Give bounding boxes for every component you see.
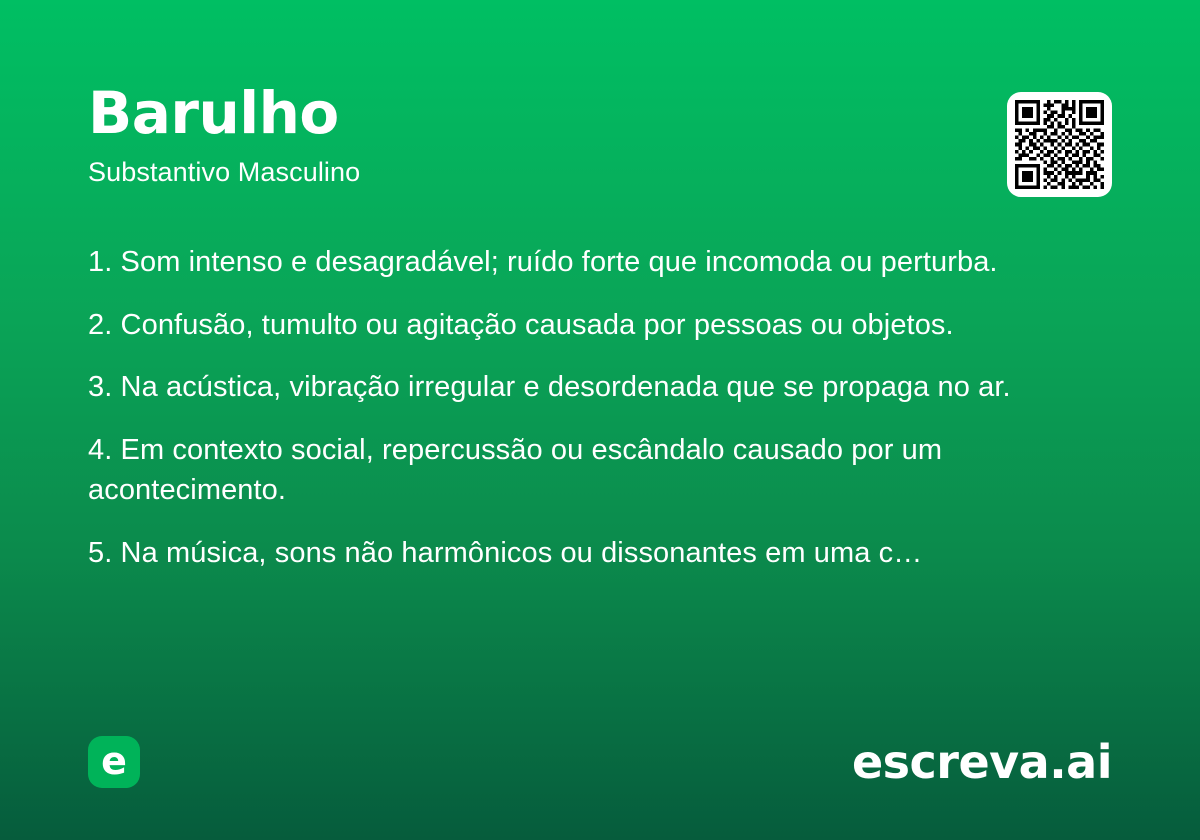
card-header: Barulho Substantivo Masculino (88, 84, 1112, 197)
page-title: Barulho (88, 84, 360, 142)
qr-code[interactable] (1007, 92, 1112, 197)
definition-list: 1. Som intenso e desagradável; ruído for… (88, 243, 1118, 573)
definition-item: 5. Na música, sons não harmônicos ou dis… (88, 534, 1118, 574)
logo-letter: e (101, 742, 127, 780)
brand-wordmark: escreva.ai (852, 739, 1112, 785)
word-class-label: Substantivo Masculino (88, 156, 360, 188)
qr-code-icon (1015, 100, 1104, 189)
card-footer: e escreva.ai (88, 734, 1112, 790)
definition-item: 1. Som intenso e desagradável; ruído for… (88, 243, 1118, 283)
definition-item: 4. Em contexto social, repercussão ou es… (88, 431, 1118, 510)
definition-item: 2. Confusão, tumulto ou agitação causada… (88, 306, 1118, 346)
definition-item: 3. Na acústica, vibração irregular e des… (88, 368, 1118, 408)
dictionary-card: Barulho Substantivo Masculino 1. Som int… (0, 0, 1200, 840)
escreva-logo-badge[interactable]: e (88, 736, 140, 788)
heading-group: Barulho Substantivo Masculino (88, 84, 360, 188)
